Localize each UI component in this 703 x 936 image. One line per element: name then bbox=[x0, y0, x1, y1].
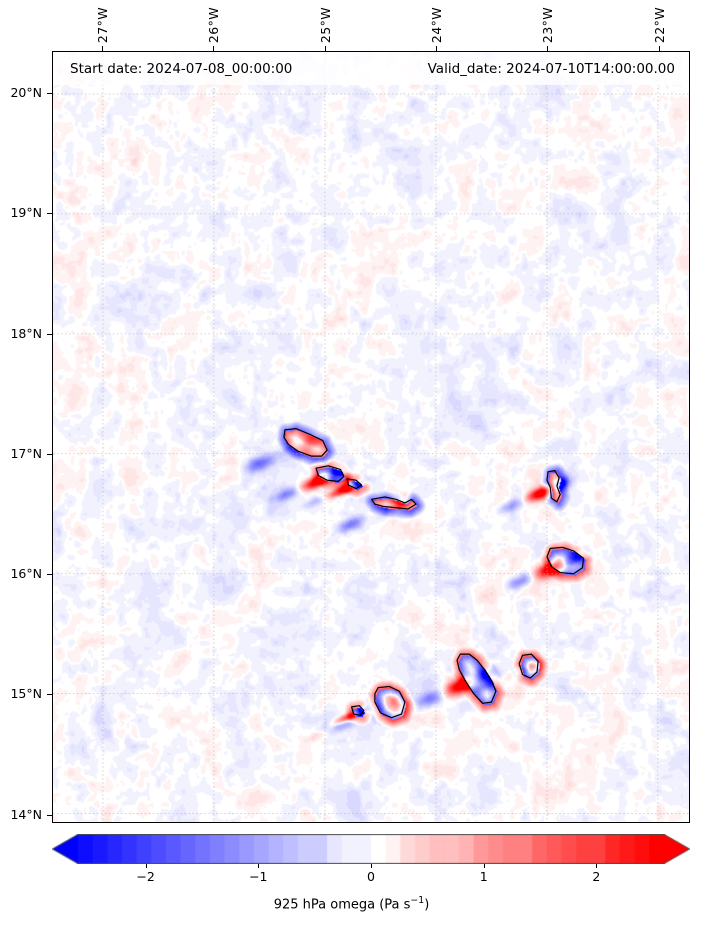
colorbar-gradient bbox=[52, 834, 690, 864]
colorbar-tick-mark bbox=[258, 864, 259, 868]
x-tick-label-24°W: 24°W bbox=[429, 7, 444, 43]
x-tick-label-22°W: 22°W bbox=[652, 7, 667, 43]
colorbar-tick-label-0: −2 bbox=[136, 869, 154, 884]
colorbar-tick-label-2: 0 bbox=[367, 869, 375, 884]
colorbar-tick-mark bbox=[371, 864, 372, 868]
colorbar-tick-label-1: −1 bbox=[249, 869, 267, 884]
x-tick-label-23°W: 23°W bbox=[540, 7, 555, 43]
colorbar-tick-mark bbox=[596, 864, 597, 868]
start-date-label: Start date: 2024-07-08_00:00:00 bbox=[70, 61, 292, 77]
x-tick-label-25°W: 25°W bbox=[318, 7, 333, 43]
colorbar-units-exponent: −1 bbox=[410, 895, 424, 906]
colorbar-tick-mark bbox=[146, 864, 147, 868]
y-tick-label-14°N: 14°N bbox=[0, 807, 42, 822]
valid-date-label: Valid_date: 2024-07-10T14:00:00.00 bbox=[428, 61, 675, 77]
map-plot-area[interactable]: Start date: 2024-07-08_00:00:00 Valid_da… bbox=[52, 51, 690, 823]
y-tick-label-17°N: 17°N bbox=[0, 446, 42, 461]
colorbar-title-tail: ) bbox=[424, 897, 429, 912]
x-tick-label-27°W: 27°W bbox=[95, 7, 110, 43]
y-tick-label-19°N: 19°N bbox=[0, 205, 42, 220]
colorbar-tick-mark bbox=[484, 864, 485, 868]
colorbar-tick-label-4: 2 bbox=[592, 869, 600, 884]
colorbar-title-text: 925 hPa omega (Pa s bbox=[274, 897, 411, 912]
date-annotation-band: Start date: 2024-07-08_00:00:00 Valid_da… bbox=[53, 52, 689, 85]
y-tick-label-15°N: 15°N bbox=[0, 686, 42, 701]
y-tick-label-20°N: 20°N bbox=[0, 85, 42, 100]
coastlines bbox=[53, 52, 689, 822]
x-tick-label-26°W: 26°W bbox=[206, 7, 221, 43]
y-tick-label-18°N: 18°N bbox=[0, 326, 42, 341]
colorbar-title: 925 hPa omega (Pa s−1) bbox=[0, 895, 703, 912]
colorbar-tick-label-3: 1 bbox=[480, 869, 488, 884]
colorbar[interactable]: −2−1012 bbox=[52, 834, 690, 864]
y-tick-label-16°N: 16°N bbox=[0, 566, 42, 581]
